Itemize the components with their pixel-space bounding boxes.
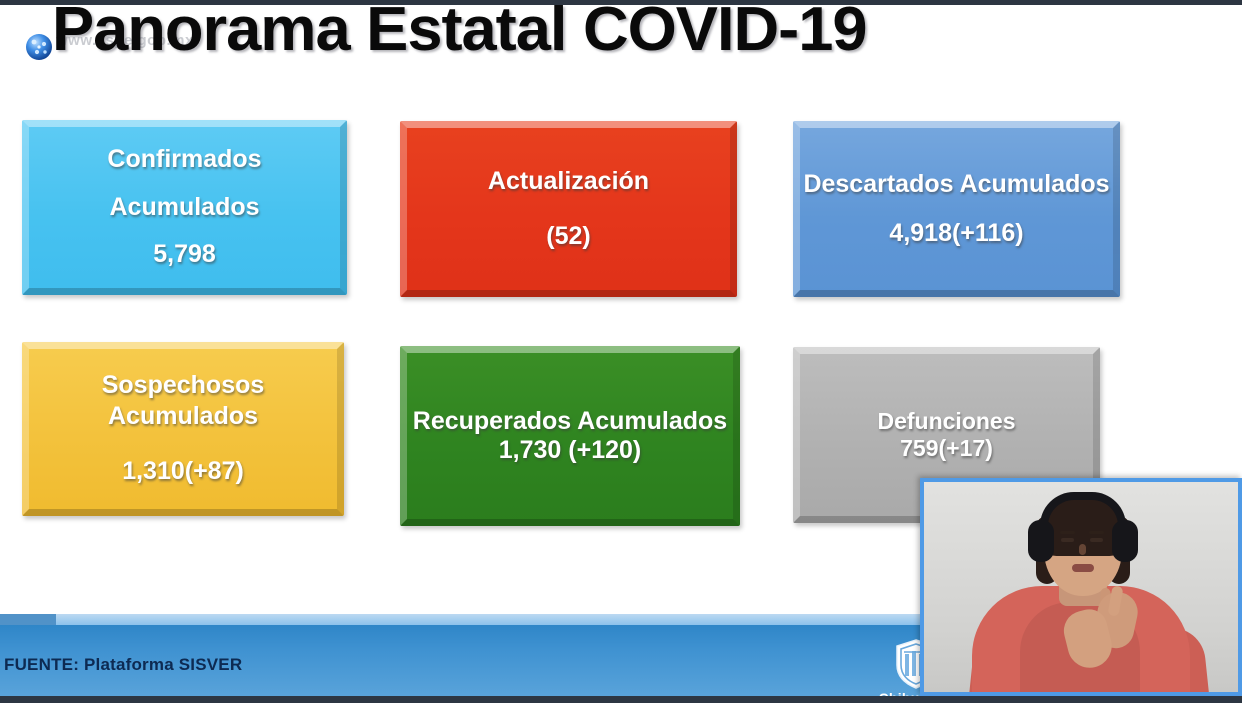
interpreter-mouth xyxy=(1072,564,1094,572)
video-feed xyxy=(924,482,1238,692)
interpreter-nose xyxy=(1079,544,1086,555)
headphone-cup-right-icon xyxy=(1112,520,1138,562)
card-value: 4,918(+116) xyxy=(881,219,1031,249)
presentation-screen: www.sspe.gob.mx Panorama Estatal COVID-1… xyxy=(0,0,1242,703)
card-label-line1: Actualización xyxy=(480,167,657,197)
footer-accent-cap xyxy=(0,614,56,625)
card-label-line2: Acumulados xyxy=(100,402,266,432)
metric-card-recuperados: Recuperados Acumulados 1,730 (+120) xyxy=(400,346,740,526)
headphone-band-icon xyxy=(1040,492,1126,526)
card-label-line1: Recuperados Acumulados xyxy=(405,407,735,437)
headphone-cup-left-icon xyxy=(1028,520,1054,562)
card-label-line1: Confirmados xyxy=(99,145,269,175)
sign-language-interpreter-video[interactable] xyxy=(920,478,1242,696)
card-label-line1: Sospechosos xyxy=(94,371,273,401)
slide-header: www.sspe.gob.mx Panorama Estatal COVID-1… xyxy=(0,1,1100,81)
footer-source-text: FUENTE: Plataforma SISVER xyxy=(4,655,242,675)
metric-card-sospechosos: Sospechosos Acumulados 1,310(+87) xyxy=(22,342,344,516)
bottom-letterbox-bar xyxy=(0,696,1242,703)
metric-card-actualizacion: Actualización (52) xyxy=(400,121,737,297)
metric-card-confirmados: Confirmados Acumulados 5,798 xyxy=(22,120,347,295)
card-label-line2: Acumulados xyxy=(101,193,267,223)
interpreter-eyebrow-right xyxy=(1089,531,1104,534)
card-value: 5,798 xyxy=(145,240,224,270)
card-value: 1,730 (+120) xyxy=(491,436,649,466)
card-value: (52) xyxy=(538,222,598,252)
interpreter-eye-left xyxy=(1061,538,1074,542)
interpreter-eye-right xyxy=(1090,538,1103,542)
interpreter-eyebrow-left xyxy=(1060,531,1075,534)
card-value: 759(+17) xyxy=(892,435,1001,462)
card-label-line1: Defunciones xyxy=(869,408,1023,435)
page-title: Panorama Estatal COVID-19 xyxy=(52,0,867,65)
virus-globe-icon xyxy=(22,30,56,64)
card-value: 1,310(+87) xyxy=(114,457,252,487)
metric-card-descartados: Descartados Acumulados 4,918(+116) xyxy=(793,121,1120,297)
card-label-line1: Descartados Acumulados xyxy=(795,170,1117,200)
